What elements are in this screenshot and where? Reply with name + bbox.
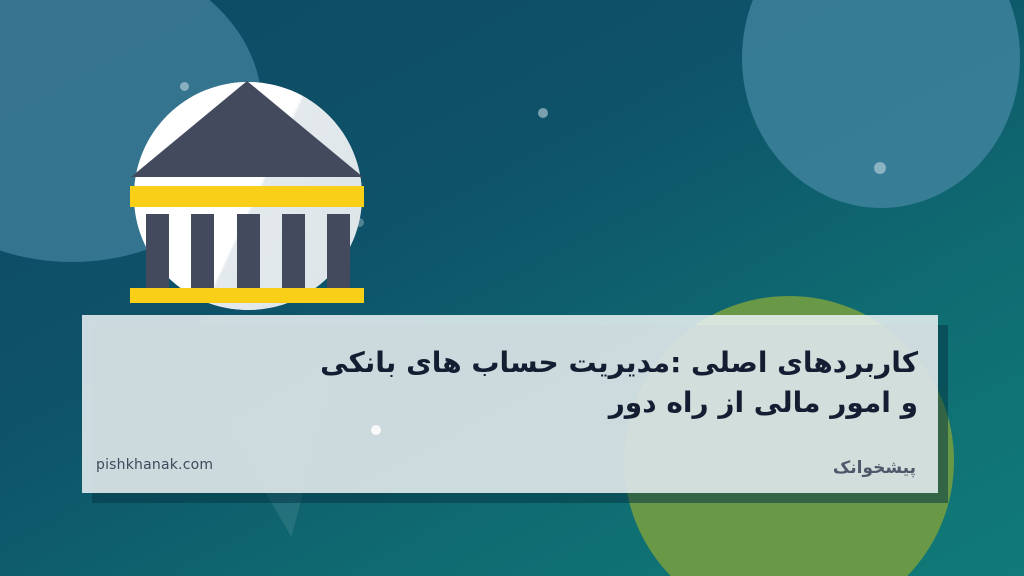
bank-column (237, 214, 260, 296)
slide-title: کاربردهای اصلی :مدیریت حساب های بانکی و … (298, 343, 918, 423)
bank-column (191, 214, 214, 296)
slide-canvas: کاربردهای اصلی :مدیریت حساب های بانکی و … (0, 0, 1024, 576)
bank-entablature-bar (130, 186, 364, 207)
top-right-circle-decoration (742, 0, 1020, 208)
bank-column (327, 214, 350, 296)
sparkle-dot (538, 108, 548, 118)
bank-column (146, 214, 169, 296)
bank-base-bar (130, 288, 364, 303)
sparkle-dot (874, 162, 886, 174)
slide-subtitle: پیشخوانک (833, 458, 916, 478)
title-card: کاربردهای اصلی :مدیریت حساب های بانکی و … (82, 315, 938, 493)
bank-columns (146, 214, 350, 296)
bank-column (282, 214, 305, 296)
bank-building-icon (128, 76, 364, 306)
site-url-label: pishkhanak.com (96, 457, 213, 473)
